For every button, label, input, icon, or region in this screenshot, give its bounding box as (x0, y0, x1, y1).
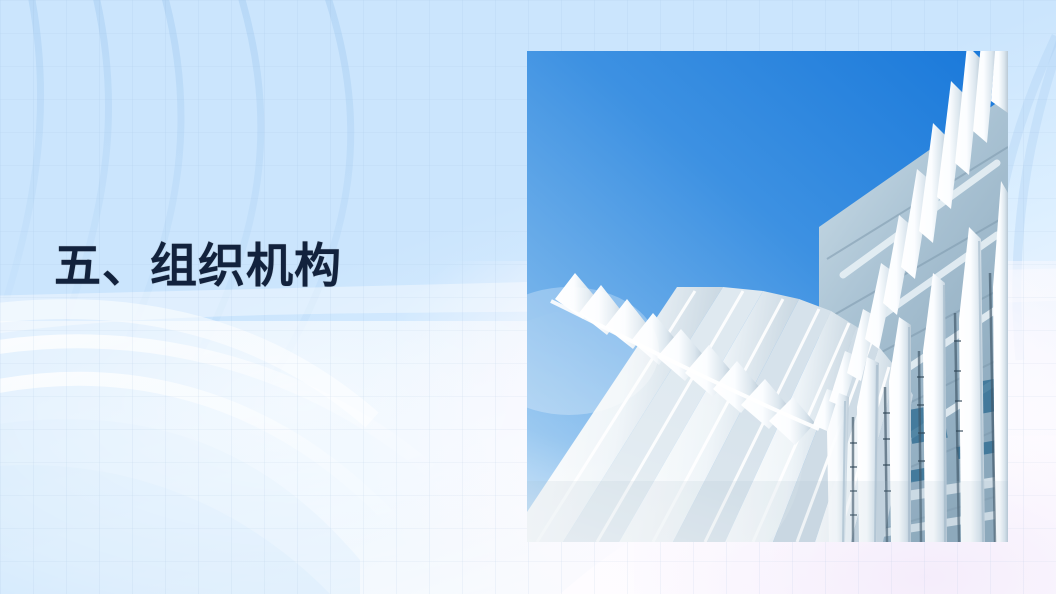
architecture-photo (527, 51, 1008, 542)
slide-canvas: 五、组织机构 (0, 0, 1056, 594)
page-title: 五、组织机构 (54, 238, 342, 293)
